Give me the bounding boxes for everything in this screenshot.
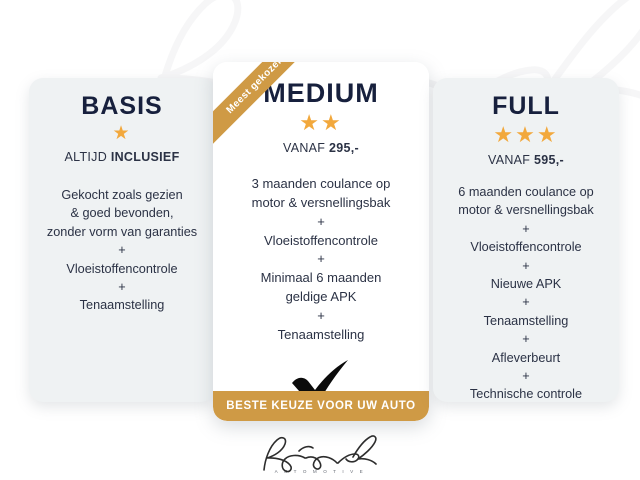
- price-value: INCLUSIEF: [111, 150, 180, 164]
- plan-price-basis: ALTIJD INCLUSIEF: [39, 150, 205, 164]
- price-prefix: ALTIJD: [64, 150, 107, 164]
- plan-cards-row: BASIS ★ ALTIJD INCLUSIEF Gekocht zoals g…: [0, 0, 640, 420]
- price-prefix: VANAF: [283, 141, 325, 155]
- feature-line: 3 maanden coulance op: [225, 175, 417, 194]
- feature-line: & goed bevonden,: [39, 204, 205, 222]
- feature-line: Afleverbeurt: [443, 349, 609, 367]
- price-value: 295,-: [329, 141, 359, 155]
- star-icon: ★: [515, 122, 537, 147]
- price-value: 595,-: [534, 153, 564, 167]
- plan-card-full[interactable]: FULL ★★★ VANAF 595,- 6 maanden coulance …: [433, 78, 619, 402]
- plan-stars-full: ★★★: [443, 124, 609, 146]
- feature-separator: +: [443, 367, 609, 385]
- star-icon: ★: [537, 122, 559, 147]
- plan-card-basis[interactable]: BASIS ★ ALTIJD INCLUSIEF Gekocht zoals g…: [29, 78, 215, 402]
- best-choice-banner-label: BESTE KEUZE VOOR UW AUTO: [226, 400, 415, 412]
- plan-price-medium: VANAF 295,-: [225, 141, 417, 155]
- plan-card-medium-body: Meest gekozen MEDIUM ★★ VANAF 295,- 3 ma…: [213, 62, 429, 391]
- feature-separator: +: [225, 307, 417, 326]
- best-choice-banner[interactable]: BESTE KEUZE VOOR UW AUTO: [213, 391, 429, 421]
- feature-line: 6 maanden coulance op: [443, 183, 609, 201]
- plan-stars-medium: ★★: [225, 112, 417, 134]
- star-icon: ★: [299, 110, 321, 135]
- plan-price-full: VANAF 595,-: [443, 153, 609, 167]
- plan-features-medium: 3 maanden coulance op motor & versnellin…: [225, 175, 417, 345]
- feature-separator: +: [39, 278, 205, 296]
- feature-line: Minimaal 6 maanden: [225, 269, 417, 288]
- price-prefix: VANAF: [488, 153, 530, 167]
- plan-features-basis: Gekocht zoals gezien & goed bevonden, zo…: [39, 186, 205, 315]
- feature-separator: +: [225, 250, 417, 269]
- star-icon: ★: [112, 123, 131, 144]
- feature-line: Technische controle: [443, 385, 609, 402]
- feature-line: Nieuwe APK: [443, 275, 609, 293]
- feature-line: Vloeistoffencontrole: [39, 260, 205, 278]
- plan-features-full: 6 maanden coulance op motor & versnellin…: [443, 183, 609, 402]
- star-icon: ★: [321, 110, 343, 135]
- pricing-comparison-page: BASIS ★ ALTIJD INCLUSIEF Gekocht zoals g…: [0, 0, 640, 480]
- feature-separator: +: [443, 293, 609, 311]
- plan-title-basis: BASIS: [39, 94, 205, 119]
- feature-line: Tenaamstelling: [225, 326, 417, 345]
- feature-separator: +: [39, 241, 205, 259]
- feature-separator: +: [443, 330, 609, 348]
- feature-line: motor & versnellingsbak: [443, 201, 609, 219]
- feature-separator: +: [443, 220, 609, 238]
- plan-card-medium[interactable]: Meest gekozen MEDIUM ★★ VANAF 295,- 3 ma…: [213, 62, 429, 421]
- feature-line: motor & versnellingsbak: [225, 194, 417, 213]
- feature-line: Gekocht zoals gezien: [39, 186, 205, 204]
- feature-separator: +: [225, 213, 417, 232]
- brand-signature-icon: [255, 434, 385, 476]
- star-icon: ★: [493, 122, 515, 147]
- feature-line: Vloeistoffencontrole: [443, 238, 609, 256]
- brand-logo: A U T O M O T I V E: [0, 420, 640, 474]
- plan-stars-basis: ★: [39, 124, 205, 143]
- feature-line: Tenaamstelling: [39, 296, 205, 314]
- feature-line: zonder vorm van garanties: [39, 223, 205, 241]
- feature-line: Vloeistoffencontrole: [225, 232, 417, 251]
- plan-title-full: FULL: [443, 94, 609, 119]
- feature-line: geldige APK: [225, 288, 417, 307]
- feature-line: Tenaamstelling: [443, 312, 609, 330]
- feature-separator: +: [443, 257, 609, 275]
